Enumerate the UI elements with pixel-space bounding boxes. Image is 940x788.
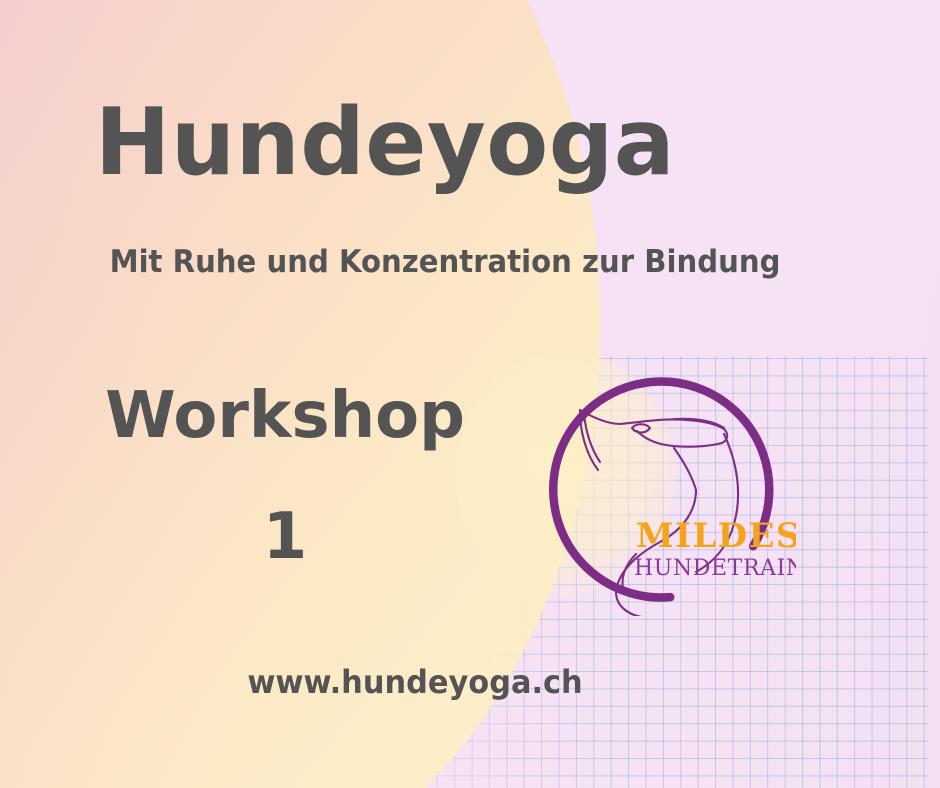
poster-content: Hundeyoga Mit Ruhe und Konzentration zur… — [0, 0, 940, 788]
workshop-label: Workshop — [0, 384, 570, 448]
page-title: Hundeyoga — [12, 96, 759, 189]
workshop-number: 1 — [0, 505, 570, 569]
poster-canvas: Hundeyoga Mit Ruhe und Konzentration zur… — [0, 0, 940, 788]
logo-brand-secondary: HUNDETRAINING — [634, 556, 796, 581]
logo-brand-primary: MILDES — [636, 516, 796, 556]
page-subtitle: Mit Ruhe und Konzentration zur Bindung — [27, 245, 864, 279]
website-url: www.hundeyoga.ch — [21, 665, 810, 700]
brand-logo: MILDES HUNDETRAINING — [524, 344, 796, 616]
